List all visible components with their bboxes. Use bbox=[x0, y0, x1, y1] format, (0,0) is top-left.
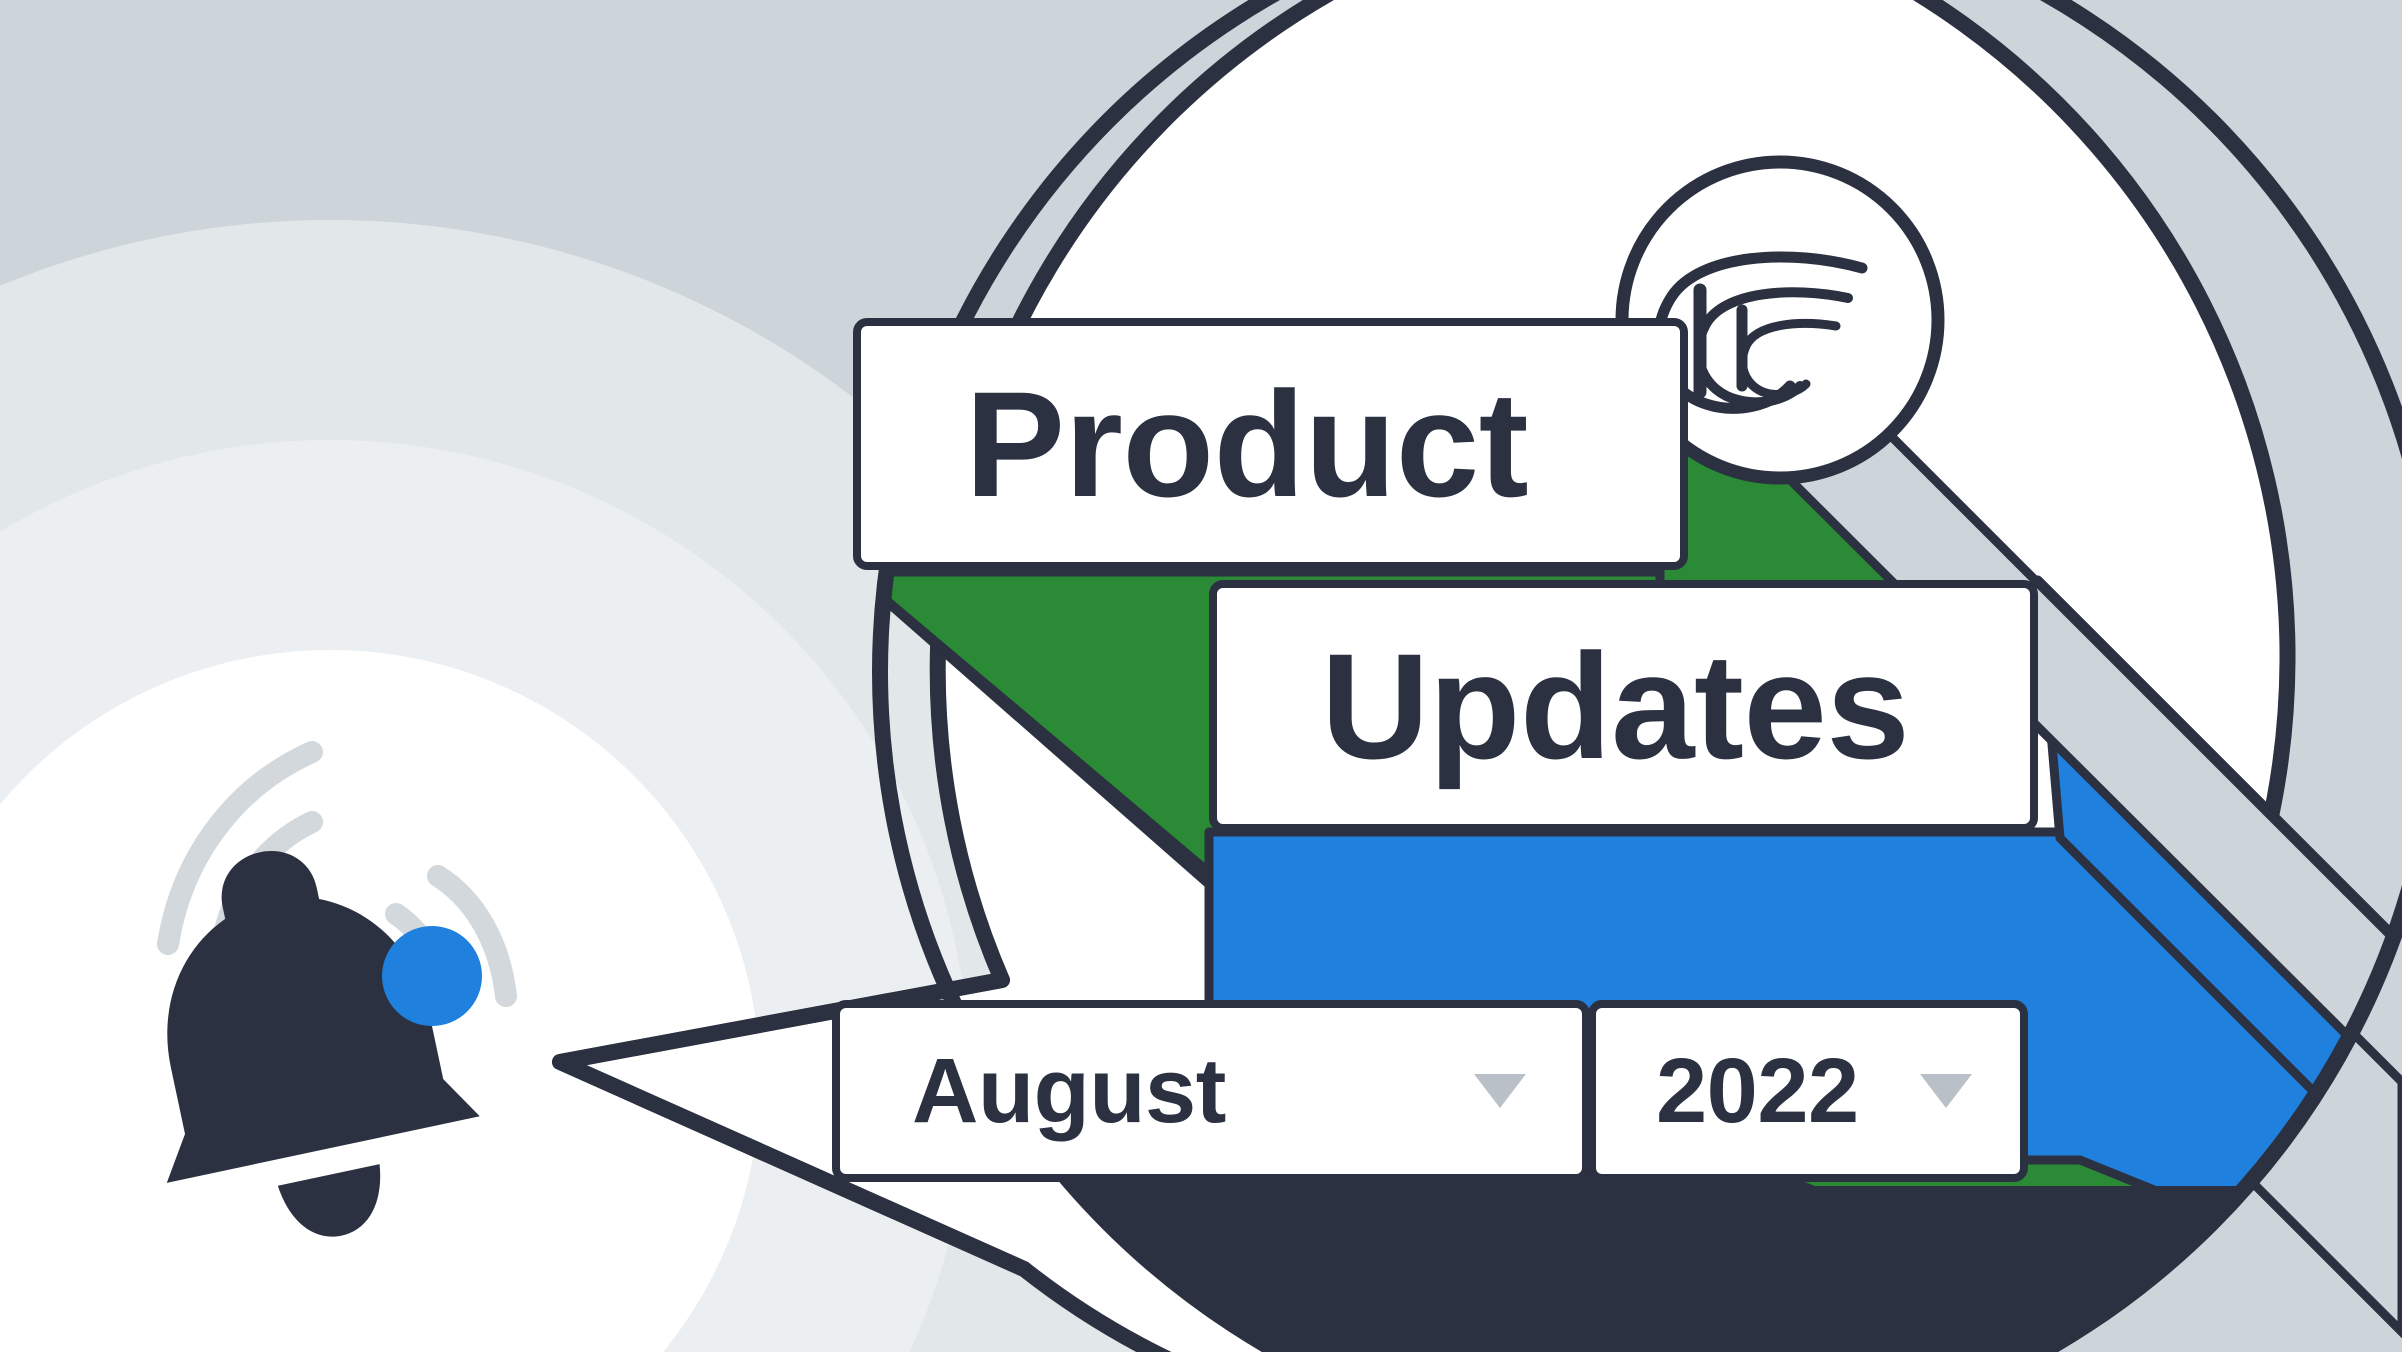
year-dropdown-value: 2022 bbox=[1656, 1045, 1859, 1137]
month-dropdown-value: August bbox=[912, 1045, 1226, 1137]
title-line-1: Product bbox=[965, 369, 1528, 519]
product-updates-banner: Product Updates August 2022 bbox=[0, 0, 2402, 1352]
chevron-down-icon bbox=[1474, 1074, 1526, 1108]
year-dropdown[interactable]: 2022 bbox=[1588, 1000, 2028, 1182]
chevron-down-icon bbox=[1920, 1074, 1972, 1108]
blue-notification-dot-icon bbox=[382, 926, 482, 1026]
title-line-2: Updates bbox=[1321, 631, 1909, 781]
title-chip-updates: Updates bbox=[1209, 580, 2038, 832]
title-chip-product: Product bbox=[853, 318, 1688, 570]
month-dropdown[interactable]: August bbox=[832, 1000, 1590, 1182]
